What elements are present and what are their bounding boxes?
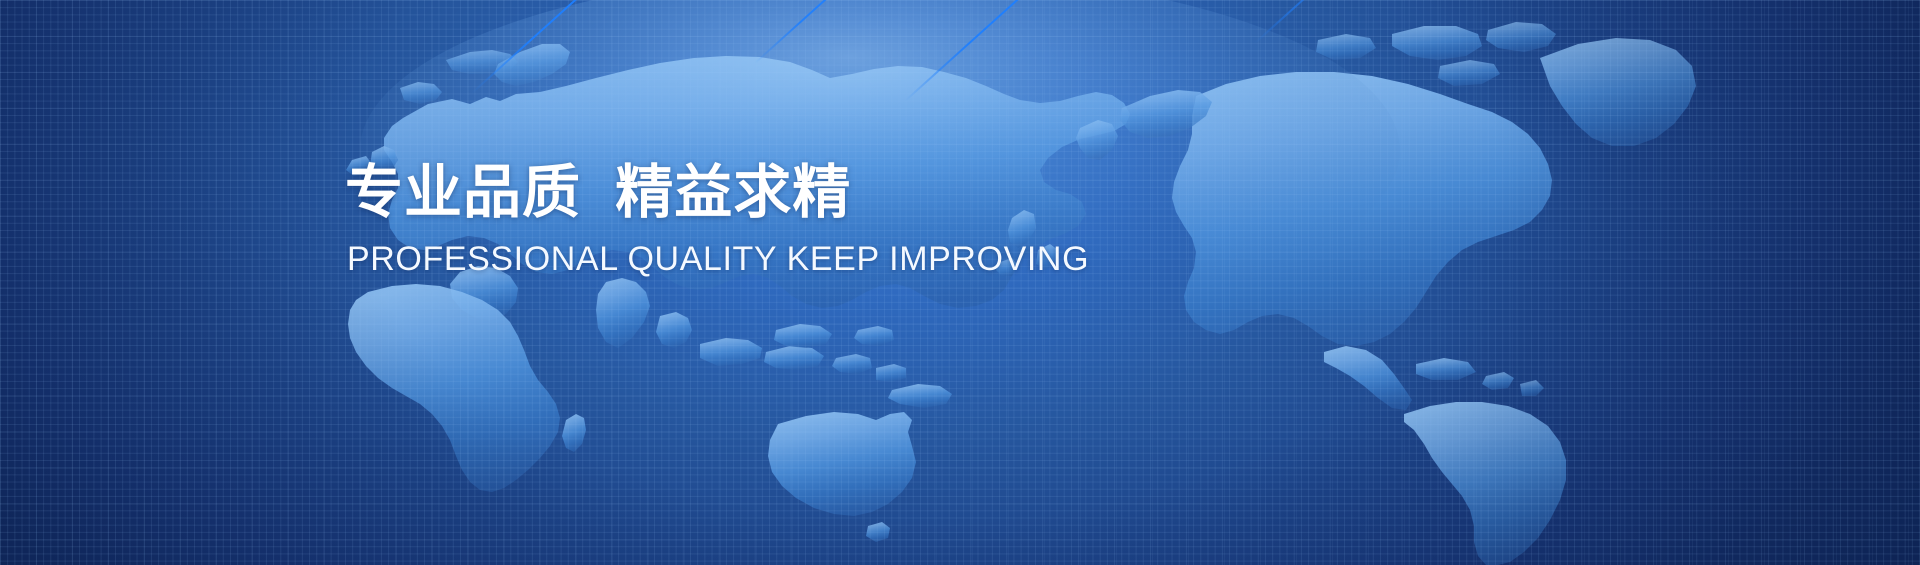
hero-banner: 专业品质 精益求精 PROFESSIONAL QUALITY KEEP IMPR… bbox=[0, 0, 1920, 565]
background-grid-fine bbox=[0, 0, 1920, 565]
hero-subline-english: PROFESSIONAL QUALITY KEEP IMPROVING bbox=[347, 241, 1089, 278]
hero-headline-chinese: 专业品质 精益求精 bbox=[345, 163, 1089, 223]
hero-copy-block: 专业品质 精益求精 PROFESSIONAL QUALITY KEEP IMPR… bbox=[345, 163, 1089, 279]
